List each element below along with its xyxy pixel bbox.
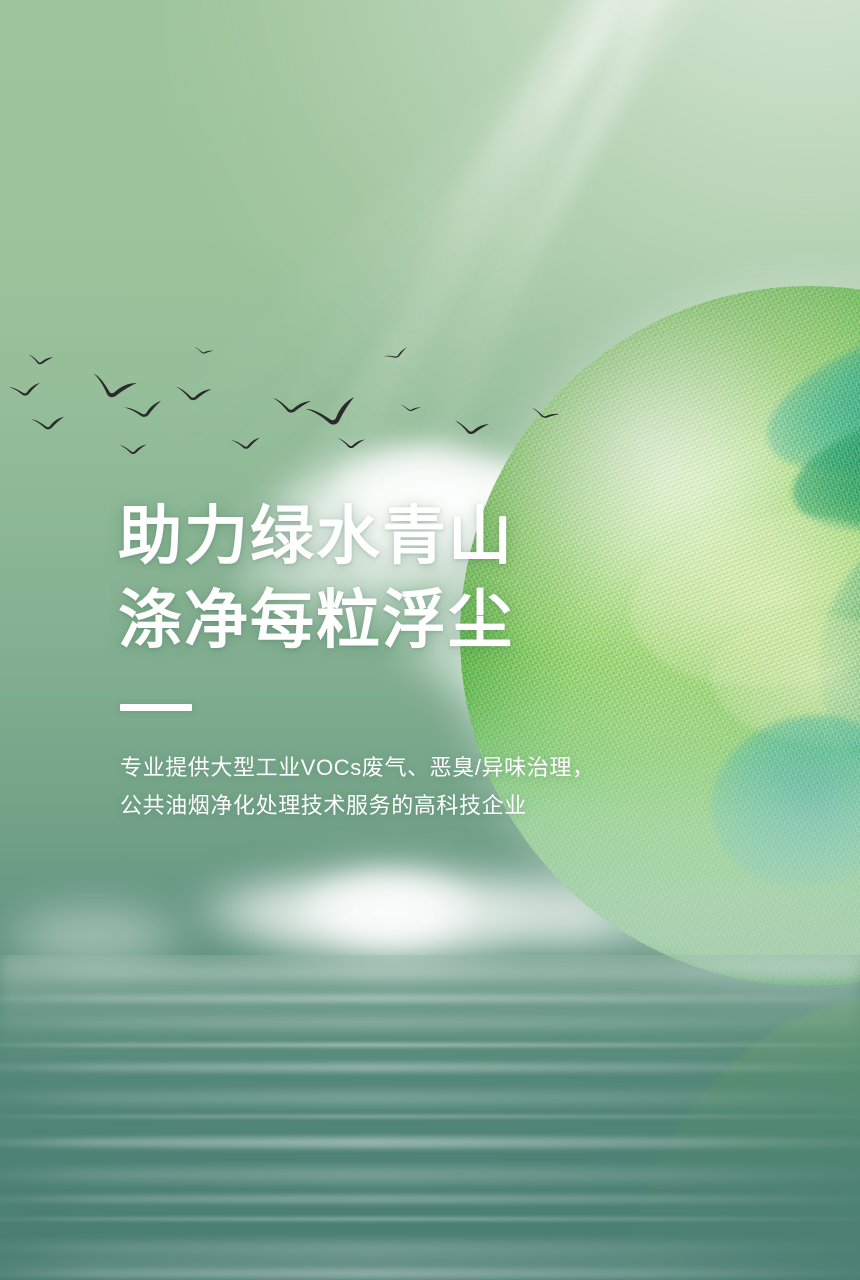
continent-north	[748, 286, 860, 504]
water-ripple	[0, 1255, 860, 1277]
globe-reflection	[600, 1000, 860, 1280]
bird-icon	[337, 437, 366, 452]
water-ripple	[0, 1043, 860, 1047]
bird-icon	[192, 346, 214, 360]
bird-icon	[30, 416, 67, 434]
water-ripple	[0, 1017, 860, 1029]
bird-icon	[26, 353, 53, 369]
water-ripple	[0, 1167, 860, 1183]
cloud	[520, 890, 660, 950]
cloud	[450, 872, 620, 946]
subtitle-line-1: 专业提供大型工业VOCs废气、恶臭/异味治理，	[120, 749, 678, 787]
bird-icon	[398, 404, 421, 418]
reflection-body	[600, 1000, 860, 1280]
bird-icon	[87, 365, 140, 409]
bird-icon	[123, 400, 165, 424]
bird-icon	[119, 444, 147, 457]
bird-icon	[231, 437, 262, 453]
water-ripple	[0, 1091, 860, 1105]
cloud	[0, 900, 190, 970]
continent-eurasia	[781, 376, 860, 556]
poster-canvas: 助力绿水青山 涤净每粒浮尘 专业提供大型工业VOCs废气、恶臭/异味治理， 公共…	[0, 0, 860, 1280]
bird-icon	[452, 419, 490, 440]
headline-line-2: 涤净每粒浮尘	[118, 578, 678, 662]
bird-icon	[382, 346, 411, 368]
water-ripple	[0, 969, 860, 979]
water-ripple	[0, 1217, 860, 1221]
continent-south	[692, 694, 860, 907]
reflection-fade	[600, 1000, 860, 1280]
water-ripple	[0, 995, 860, 1002]
water-ripple	[0, 1269, 860, 1279]
water-ripple	[0, 1195, 860, 1203]
bird-icon	[303, 393, 360, 433]
cloud	[250, 862, 540, 966]
water-sheen	[0, 955, 860, 1075]
desert-region-2	[706, 608, 860, 754]
hero-text-block: 助力绿水青山 涤净每粒浮尘 专业提供大型工业VOCs废气、恶臭/异味治理， 公共…	[118, 494, 678, 825]
water-ripple	[0, 1241, 860, 1255]
water-ripple	[0, 1115, 860, 1118]
water-ripple	[0, 1137, 860, 1148]
water-surface-ripples	[0, 955, 860, 1280]
bird-icon	[528, 407, 560, 428]
bird-icon	[270, 396, 312, 419]
headline-line-1: 助力绿水青山	[118, 494, 678, 578]
sun-glow	[160, 0, 860, 560]
bird-icon	[7, 382, 42, 400]
cloud	[300, 868, 480, 944]
water-ripple	[0, 1063, 860, 1072]
bird-icon	[173, 385, 212, 405]
title-divider-rule	[120, 704, 192, 711]
light-ray	[190, 0, 860, 518]
cloud	[196, 880, 346, 942]
subtitle-line-2: 公共油烟净化处理技术服务的高科技企业	[120, 787, 678, 825]
light-ray	[118, 0, 860, 491]
continent-africa	[804, 525, 860, 788]
